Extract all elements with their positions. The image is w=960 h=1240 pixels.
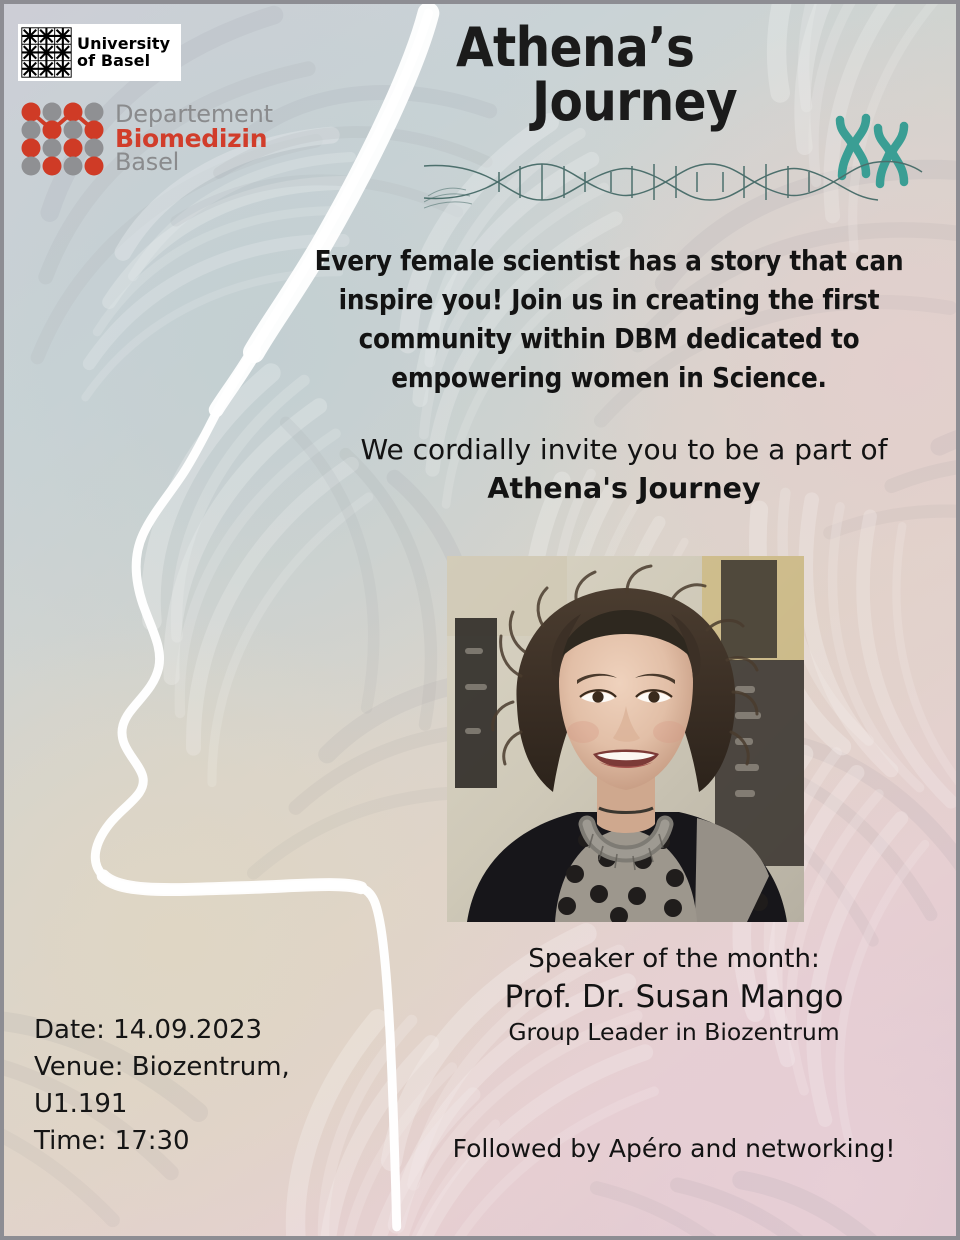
- speaker-portrait-photo: [447, 556, 804, 922]
- event-time: Time: 17:30: [34, 1123, 364, 1160]
- poster-title: Athena’s Journey: [434, 22, 944, 202]
- dbm-logo-line3: Basel: [115, 151, 273, 175]
- event-poster: University of Basel: [0, 0, 960, 1240]
- invitation-block: We cordially invite you to be a part of …: [324, 432, 924, 507]
- university-logo-line1: University: [77, 36, 170, 53]
- title-line-1: Athena’s: [434, 22, 944, 74]
- speaker-role: Group Leader in Biozentrum: [404, 1018, 944, 1048]
- dot-matrix-network-icon: [20, 100, 106, 178]
- departement-biomedizin-logo: Departement Biomedizin Basel: [20, 100, 273, 178]
- event-date: Date: 14.09.2023: [34, 1012, 364, 1049]
- university-of-basel-logo: University of Basel: [18, 24, 181, 81]
- speaker-name: Prof. Dr. Susan Mango: [404, 978, 944, 1017]
- event-details: Date: 14.09.2023 Venue: Biozentrum, U1.1…: [34, 1012, 364, 1160]
- basel-star-grid-icon: [18, 24, 75, 81]
- dbm-logo-text: Departement Biomedizin Basel: [115, 103, 273, 175]
- invitation-line-1: We cordially invite you to be a part of: [324, 432, 924, 468]
- university-logo-text: University of Basel: [75, 36, 170, 69]
- speaker-info: Speaker of the month: Prof. Dr. Susan Ma…: [404, 944, 944, 1047]
- event-venue: Venue: Biozentrum, U1.191: [34, 1049, 364, 1123]
- followed-by-note: Followed by Apéro and networking!: [404, 1134, 944, 1163]
- dna-helix-icon: [424, 150, 924, 212]
- university-logo-line2: of Basel: [77, 53, 170, 70]
- speaker-label: Speaker of the month:: [404, 944, 944, 976]
- poster-lede-text: Every female scientist has a story that …: [304, 242, 914, 398]
- invitation-line-2: Athena's Journey: [324, 470, 924, 508]
